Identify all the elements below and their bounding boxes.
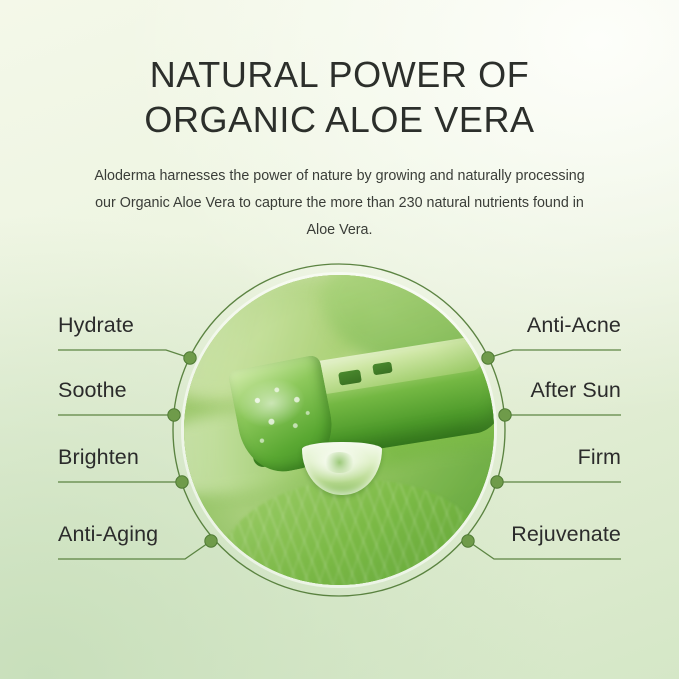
node-dot-soothe xyxy=(168,409,180,421)
benefit-label-anti-acne: Anti-Acne xyxy=(527,313,621,338)
photo-vignette xyxy=(184,275,494,585)
benefit-label-rejuvenate: Rejuvenate xyxy=(511,522,621,547)
benefit-label-anti-aging: Anti-Aging xyxy=(58,522,158,547)
benefits-diagram xyxy=(0,0,679,679)
connector-line-anti-acne xyxy=(488,350,621,358)
center-aloe-photo xyxy=(184,275,494,585)
benefit-label-brighten: Brighten xyxy=(58,445,139,470)
node-dot-after-sun xyxy=(499,409,511,421)
aloe-vera-infographic-poster: NATURAL POWER OF ORGANIC ALOE VERA Alode… xyxy=(0,0,679,679)
benefit-label-hydrate: Hydrate xyxy=(58,313,134,338)
connector-line-hydrate xyxy=(58,350,190,358)
benefit-label-after-sun: After Sun xyxy=(530,378,621,403)
benefit-label-soothe: Soothe xyxy=(58,378,127,403)
benefit-label-firm: Firm xyxy=(578,445,621,470)
